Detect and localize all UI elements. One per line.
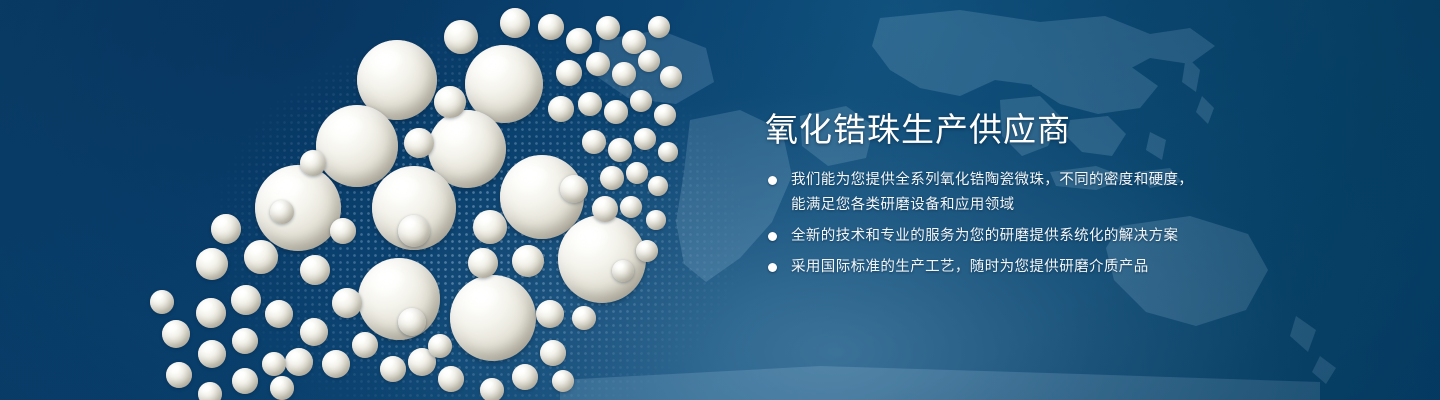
feature-bullet-list: 我们能为您提供全系列氧化锆陶瓷微珠，不同的密度和硬度， 能满足您各类研磨设备和应… bbox=[763, 168, 1233, 286]
hero-banner: 氧化锆珠生产供应商 我们能为您提供全系列氧化锆陶瓷微珠，不同的密度和硬度， 能满… bbox=[0, 0, 1440, 400]
banner-content: 氧化锆珠生产供应商 我们能为您提供全系列氧化锆陶瓷微珠，不同的密度和硬度， 能满… bbox=[763, 0, 1383, 400]
list-item: 全新的技术和专业的服务为您的研磨提供系统化的解决方案 bbox=[763, 224, 1233, 249]
bullet-text: 全新的技术和专业的服务为您的研磨提供系统化的解决方案 bbox=[791, 224, 1233, 249]
list-item: 我们能为您提供全系列氧化锆陶瓷微珠，不同的密度和硬度， 能满足您各类研磨设备和应… bbox=[763, 168, 1233, 218]
bullet-dot-icon bbox=[768, 232, 777, 241]
bullet-text: 能满足您各类研磨设备和应用领域 bbox=[791, 193, 1233, 218]
bullet-text: 采用国际标准的生产工艺，随时为您提供研磨介质产品 bbox=[791, 255, 1233, 280]
bullet-dot-icon bbox=[768, 263, 777, 272]
list-item: 采用国际标准的生产工艺，随时为您提供研磨介质产品 bbox=[763, 255, 1233, 280]
bullet-text: 我们能为您提供全系列氧化锆陶瓷微珠，不同的密度和硬度， bbox=[791, 168, 1233, 193]
bullet-dot-icon bbox=[768, 176, 777, 185]
page-title: 氧化锆珠生产供应商 bbox=[765, 110, 1071, 150]
